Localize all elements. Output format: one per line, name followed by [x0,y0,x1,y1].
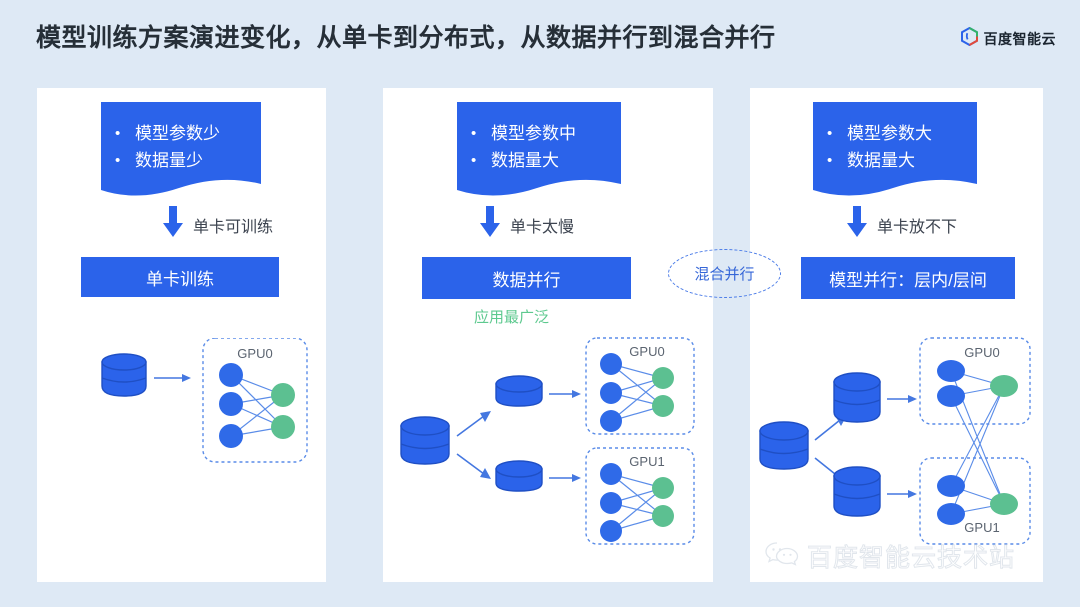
data-cylinder [760,422,808,469]
panel-3-diagram: GPU0 GPU1 [752,336,1042,564]
panel-2-arrow-row: 单卡太慢 [479,206,574,243]
output-node [990,375,1018,397]
baidu-cloud-hexagon-icon [961,27,978,51]
panel-2-arrow-caption: 单卡太慢 [510,213,574,237]
down-arrow-icon [846,206,868,243]
panel-3-strategy-box: 模型并行：层内/层间 [801,257,1015,299]
panel-3-arrow-caption: 单卡放不下 [877,213,957,237]
down-arrow-icon [479,206,501,243]
panel-1-arrow-row: 单卡可训练 [162,206,273,243]
panel-2-strategy-box: 数据并行 [422,257,631,299]
flow-arrow-icon [154,374,191,382]
watermark-text: 百度智能云技术站 [807,538,1015,574]
bullet-item: 数据量少 [135,147,220,174]
panel-1-banner: 模型参数少 数据量少 [101,102,261,202]
output-node [652,505,674,527]
brand-logo: 百度智能云 [961,27,1057,51]
wechat-icon [765,540,799,573]
panel-1-arrow-caption: 单卡可训练 [193,213,273,237]
output-node [271,383,295,407]
input-node [600,410,622,432]
shard-cylinder [834,467,880,516]
down-arrow-icon [162,206,184,243]
input-node [600,492,622,514]
input-node [219,424,243,448]
gpu-label: GPU0 [629,344,664,359]
panel-2-note: 应用最广泛 [474,306,549,327]
hybrid-parallel-badge: 混合并行 [668,249,781,298]
input-node [937,475,965,497]
panel-3-banner: 模型参数大 数据量大 [813,102,977,202]
output-node [652,477,674,499]
slide-header: 模型训练方案演进变化，从单卡到分布式，从数据并行到混合并行 百度智能云 [0,0,1080,78]
gpu-label: GPU1 [964,520,999,535]
data-cylinder [401,417,449,464]
panel-data-parallel: 模型参数中 数据量大 单卡太慢 数据并行 应用最广泛 [383,88,713,582]
panel-2-bullet-list: 模型参数中 数据量大 [457,120,576,174]
input-node [937,360,965,382]
input-node [937,385,965,407]
panel-1-strategy-box: 单卡训练 [81,257,279,297]
input-node [219,363,243,387]
panel-single-card: 模型参数少 数据量少 单卡可训练 单卡训练 [37,88,326,582]
output-node [652,367,674,389]
bullet-item: 模型参数中 [491,120,576,147]
input-node [600,382,622,404]
output-node [652,395,674,417]
data-cylinder [102,354,146,396]
flow-arrow-icon [887,399,910,494]
input-node [937,503,965,525]
input-node [600,463,622,485]
split-arrow-icon [457,416,484,474]
bullet-item: 数据量大 [847,147,932,174]
brand-name: 百度智能云 [984,29,1057,49]
panel-2-banner: 模型参数中 数据量大 [457,102,621,202]
output-node [271,415,295,439]
input-node [600,520,622,542]
shard-cylinder [496,461,542,491]
input-node [600,353,622,375]
slide-canvas: 模型训练方案演进变化，从单卡到分布式，从数据并行到混合并行 百度智能云 模型参数… [0,0,1080,607]
panel-3-bullet-list: 模型参数大 数据量大 [813,120,932,174]
shard-cylinder [834,373,880,422]
gpu-label: GPU0 [237,346,272,361]
gpu-label: GPU1 [629,454,664,469]
panel-1-bullet-list: 模型参数少 数据量少 [101,120,220,174]
panel-3-arrow-row: 单卡放不下 [846,206,957,243]
watermark: 百度智能云技术站 [765,538,1015,574]
bullet-item: 模型参数少 [135,120,220,147]
bullet-item: 数据量大 [491,147,576,174]
input-node [219,392,243,416]
page-title: 模型训练方案演进变化，从单卡到分布式，从数据并行到混合并行 [36,18,776,54]
output-node [990,493,1018,515]
bullet-item: 模型参数大 [847,120,932,147]
flow-arrow-icon [549,394,574,478]
split-arrow-icon [815,420,840,478]
shard-cylinder [496,376,542,406]
panel-1-diagram: GPU0 [55,338,315,488]
panel-model-parallel: 模型参数大 数据量大 单卡放不下 模型并行：层内/层间 [750,88,1043,582]
panel-2-diagram: GPU0 GPU1 [391,336,707,564]
gpu-label: GPU0 [964,345,999,360]
